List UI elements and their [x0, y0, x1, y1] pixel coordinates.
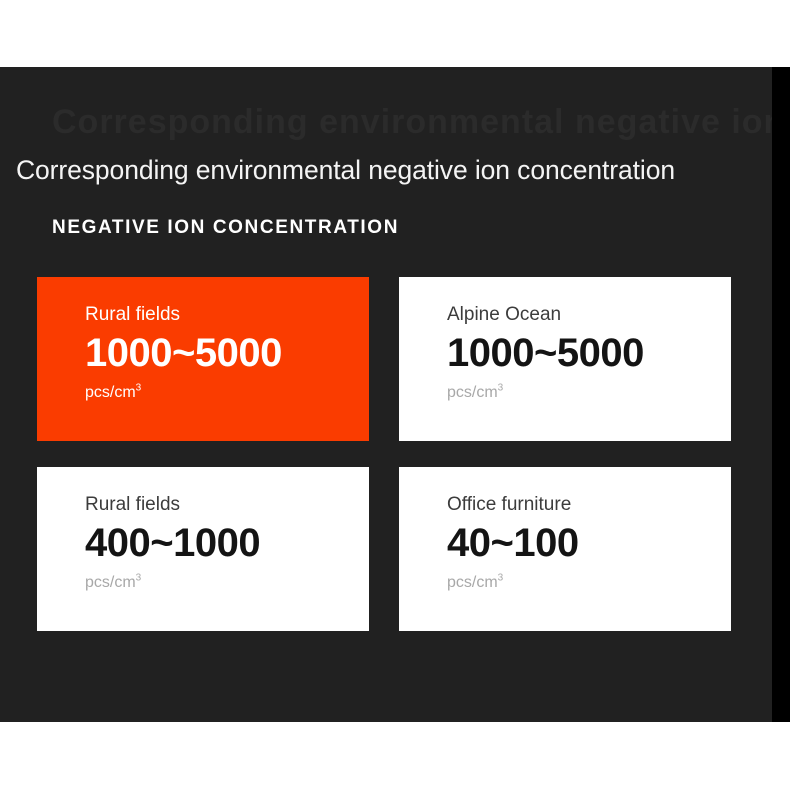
card-label: Rural fields	[85, 303, 369, 327]
concentration-card[interactable]: Office furniture 40~100 pcs/cm3	[399, 467, 731, 631]
concentration-card[interactable]: Rural fields 1000~5000 pcs/cm3	[37, 277, 369, 441]
card-unit: pcs/cm3	[447, 383, 731, 403]
card-unit: pcs/cm3	[447, 573, 731, 593]
card-unit-exponent: 3	[498, 573, 504, 584]
concentration-card[interactable]: Rural fields 400~1000 pcs/cm3	[37, 467, 369, 631]
card-unit-exponent: 3	[498, 383, 504, 394]
card-label: Alpine Ocean	[447, 303, 731, 327]
concentration-card[interactable]: Alpine Ocean 1000~5000 pcs/cm3	[399, 277, 731, 441]
card-value: 1000~5000	[447, 329, 731, 377]
card-label: Office furniture	[447, 493, 731, 517]
page-title: Corresponding environmental negative ion…	[16, 154, 764, 186]
card-value: 1000~5000	[85, 329, 369, 377]
card-value: 40~100	[447, 519, 731, 567]
card-unit-exponent: 3	[136, 383, 142, 394]
card-unit: pcs/cm3	[85, 573, 369, 593]
background-watermark-text: Corresponding environmental negative ion…	[52, 99, 752, 145]
right-edge-strip	[772, 67, 790, 722]
card-unit-base: pcs/cm	[447, 384, 498, 401]
section-subheading: NEGATIVE ION CONCENTRATION	[52, 216, 399, 240]
card-unit-base: pcs/cm	[447, 574, 498, 591]
card-label: Rural fields	[85, 493, 369, 517]
card-unit-base: pcs/cm	[85, 574, 136, 591]
concentration-card-grid: Rural fields 1000~5000 pcs/cm3 Alpine Oc…	[37, 277, 731, 631]
card-unit-base: pcs/cm	[85, 384, 136, 401]
card-unit-exponent: 3	[136, 573, 142, 584]
dark-info-panel: Corresponding environmental negative ion…	[0, 67, 772, 722]
card-unit: pcs/cm3	[85, 383, 369, 403]
page-root: Corresponding environmental negative ion…	[0, 0, 790, 790]
card-value: 400~1000	[85, 519, 369, 567]
